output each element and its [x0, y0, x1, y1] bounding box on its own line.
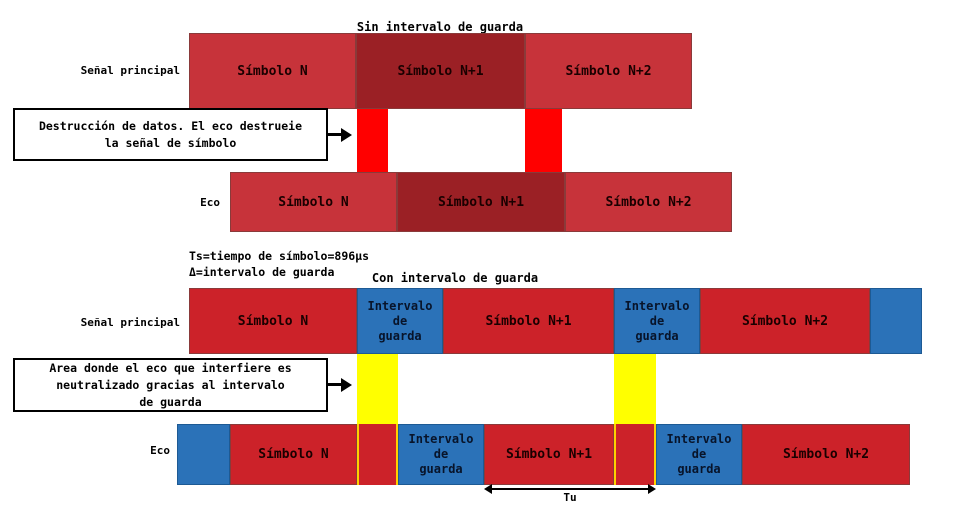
- top-echo-symbol-n1: Símbolo N+1: [397, 172, 565, 232]
- bottom-callout-arrow-head: [341, 378, 352, 392]
- bottom-neutralized-band-1: [357, 354, 398, 424]
- bottom-main-symbol-n: Símbolo N: [189, 288, 357, 354]
- top-main-signal-label: Señal principal: [20, 64, 180, 77]
- top-echo-symbol-n: Símbolo N: [230, 172, 397, 232]
- bottom-main-guard-1: Intervalo de guarda: [357, 288, 443, 354]
- bottom-echo-label: Eco: [10, 444, 170, 457]
- top-echo-label: Eco: [60, 196, 220, 209]
- top-echo-symbol-n2: Símbolo N+2: [565, 172, 732, 232]
- bottom-echo-symbol-n2: Símbolo N+2: [742, 424, 910, 485]
- bottom-echo-guard-lead: [177, 424, 230, 485]
- top-interference-band-1: [357, 109, 388, 172]
- note-symbol-time: Ts=tiempo de símbolo=896µs: [189, 248, 369, 264]
- bottom-main-guard-3: [870, 288, 922, 354]
- top-main-signal-bar: Símbolo N Símbolo N+1 Símbolo N+2: [189, 33, 692, 109]
- top-echo-bar: Símbolo N Símbolo N+1 Símbolo N+2: [230, 172, 732, 232]
- note-guard-interval: Δ=intervalo de guarda: [189, 264, 334, 280]
- bottom-main-symbol-n1: Símbolo N+1: [443, 288, 614, 354]
- bottom-echo-guard-2: Intervalo de guarda: [656, 424, 742, 485]
- bottom-callout-box: Area donde el eco que interfiere es neut…: [13, 358, 328, 412]
- bottom-echo-bar: Símbolo N Intervalo de guarda Símbolo N+…: [177, 424, 910, 485]
- bottom-echo-overlap-1: [357, 424, 398, 485]
- top-main-symbol-n1: Símbolo N+1: [356, 33, 525, 109]
- bottom-echo-symbol-n1: Símbolo N+1: [484, 424, 614, 485]
- bottom-main-signal-bar: Símbolo N Intervalo de guarda Símbolo N+…: [189, 288, 922, 354]
- bottom-callout-text: Area donde el eco que interfiere es neut…: [21, 360, 320, 411]
- bottom-main-guard-2: Intervalo de guarda: [614, 288, 700, 354]
- top-callout-text: Destrucción de datos. El eco destrueie l…: [21, 118, 320, 152]
- bottom-section-heading: Con intervalo de guarda: [335, 271, 575, 285]
- top-callout-arrow-head: [341, 128, 352, 142]
- bottom-echo-symbol-n: Símbolo N: [230, 424, 357, 485]
- top-section-heading: Sin intervalo de guarda: [320, 20, 560, 34]
- top-main-symbol-n2: Símbolo N+2: [525, 33, 692, 109]
- top-callout-box: Destrucción de datos. El eco destrueie l…: [13, 108, 328, 161]
- bottom-main-symbol-n2: Símbolo N+2: [700, 288, 870, 354]
- bottom-main-signal-label: Señal principal: [20, 316, 180, 329]
- bottom-echo-guard-1: Intervalo de guarda: [398, 424, 484, 485]
- top-main-symbol-n: Símbolo N: [189, 33, 356, 109]
- bottom-neutralized-band-2: [614, 354, 656, 424]
- tu-label: Tu: [484, 491, 656, 504]
- tu-arrow-line: [490, 488, 650, 490]
- bottom-echo-overlap-2: [614, 424, 656, 485]
- top-interference-band-2: [525, 109, 562, 172]
